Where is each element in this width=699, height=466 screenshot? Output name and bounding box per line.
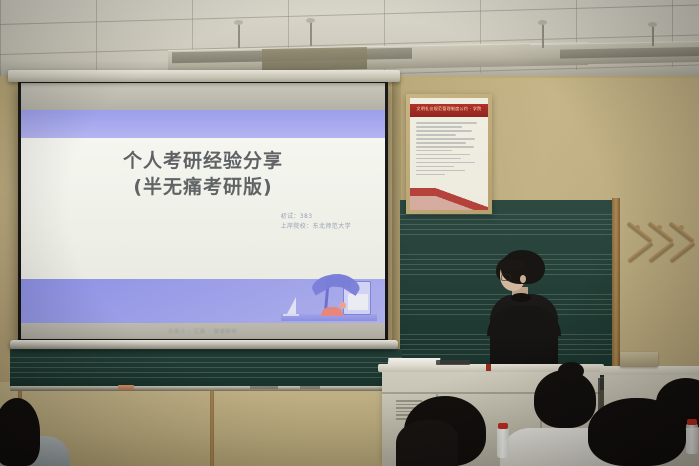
coat-rack [625, 222, 697, 268]
slide-swoosh-2 [21, 268, 239, 323]
slide-subtitle: (半无痛考研版) [21, 172, 385, 199]
poster-text-lines [416, 122, 482, 178]
red-object-on-lectern [486, 364, 491, 371]
box-on-table [620, 352, 658, 367]
wall-panel-divider-2 [210, 390, 214, 466]
blackboard-wood-frame [612, 198, 620, 392]
projection-screen: 个人考研经验分享 (半无痛考研版) 初试：383 上岸院校：东北师范大学 [18, 80, 388, 342]
fixture-hanger-cap-4 [648, 22, 657, 27]
fixture-hanger-rod-2 [310, 20, 312, 46]
slide-footer-watermark: 分享人 · 汇报 · 谢谢聆听 [21, 328, 385, 335]
sailboat-hull-icon [283, 314, 299, 316]
side-table-top [600, 366, 699, 375]
slide-meta-school: 上岸院校：东北师范大学 [281, 222, 351, 232]
wall-poster-frame: 文明礼仪规范管理制度公约 · 学院 [406, 94, 492, 214]
projected-image: 个人考研经验分享 (半无痛考研版) 初试：383 上岸院校：东北师范大学 [21, 83, 385, 339]
wall-poster: 文明礼仪规范管理制度公约 · 学院 [410, 98, 488, 210]
blackboard-left [10, 349, 402, 387]
audience-head-left-edge [0, 398, 40, 466]
presentation-slide: 个人考研经验分享 (半无痛考研版) 初试：383 上岸院校：东北师范大学 [21, 110, 385, 323]
papers-on-lectern [388, 358, 441, 366]
fixture-hanger-cap-1 [234, 20, 243, 25]
slide-top-band [21, 110, 385, 138]
light-fixture-gap [262, 47, 367, 71]
slide-meta-score: 初试：383 [281, 212, 351, 222]
sailboat-icon [287, 297, 296, 314]
projection-screen-roller [8, 70, 400, 82]
chalk-piece-1 [250, 386, 278, 389]
illustration-cabin-window [348, 294, 368, 310]
projection-screen-bottom-bar [10, 340, 398, 349]
slide-title: 个人考研经验分享 [21, 146, 385, 173]
fixture-hanger-rod-1 [238, 22, 240, 48]
presenter-ear [520, 275, 526, 283]
poster-title: 文明礼仪规范管理制度公约 · 学院 [410, 106, 488, 112]
slide-meta: 初试：383 上岸院校：东北师范大学 [281, 212, 351, 232]
audience-head-1b [396, 420, 458, 466]
fixture-hanger-cap-2 [306, 18, 315, 23]
presenter-fringe [498, 259, 524, 270]
audience-head-3 [588, 398, 686, 466]
audience-hair-bun [558, 362, 584, 380]
chalk-piece-2 [300, 386, 320, 389]
presenter-glasses-icon [501, 274, 511, 281]
blackboard-eraser [118, 385, 134, 390]
letterbox-top [21, 83, 385, 110]
illustration-person-head [339, 302, 346, 309]
presenter [487, 250, 561, 372]
object-on-lectern [436, 360, 470, 365]
beach-vacation-illustration [281, 263, 377, 321]
fixture-hanger-cap-3 [538, 20, 547, 25]
fixture-hanger-rod-4 [652, 24, 654, 46]
chalk-tray [10, 386, 402, 391]
classroom-photo-scene: 文明礼仪规范管理制度公约 · 学院 [0, 0, 699, 466]
poster-light-wave [410, 196, 488, 210]
presenter-collar [511, 293, 531, 302]
fixture-hanger-rod-3 [542, 22, 544, 48]
